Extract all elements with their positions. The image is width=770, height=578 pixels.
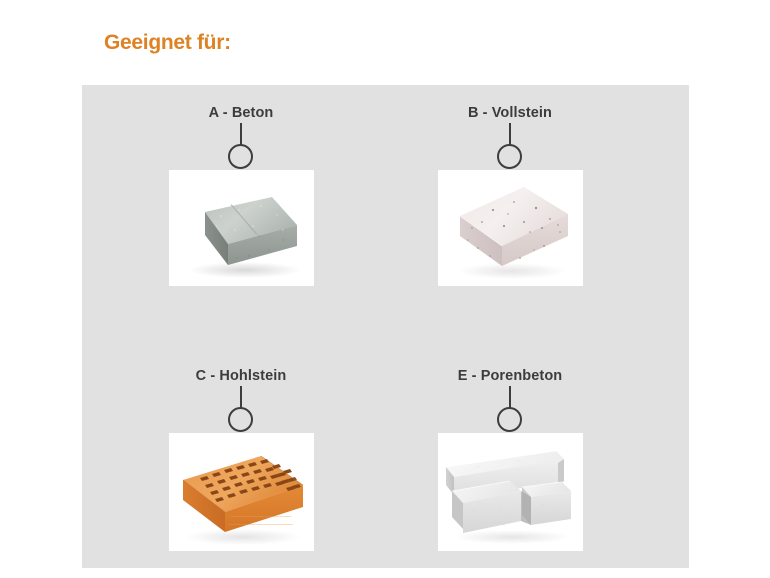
pin-stem bbox=[240, 123, 242, 145]
pin-ring bbox=[228, 144, 253, 169]
hohlstein-block-photo bbox=[169, 433, 314, 551]
material-item-vollstein[interactable]: B - Vollstein bbox=[365, 103, 655, 286]
pin-stem bbox=[240, 386, 242, 408]
pin-stem bbox=[509, 386, 511, 408]
marker-wrap-beton bbox=[96, 123, 386, 170]
pin-ring bbox=[228, 407, 253, 432]
page-title: Geeignet für: bbox=[104, 31, 231, 55]
material-photo-card-porenbeton[interactable] bbox=[438, 433, 583, 551]
material-photo-card-beton[interactable] bbox=[169, 170, 314, 286]
material-item-beton[interactable]: A - Beton bbox=[96, 103, 386, 286]
material-item-hohlstein[interactable]: C - Hohlstein bbox=[96, 366, 386, 551]
marker-wrap-hohlstein bbox=[96, 386, 386, 433]
beton-block-photo bbox=[169, 170, 314, 286]
material-label-hohlstein: C - Hohlstein bbox=[96, 366, 386, 386]
material-label-porenbeton: E - Porenbeton bbox=[365, 366, 655, 386]
pin-ring-icon bbox=[228, 386, 254, 432]
material-item-porenbeton[interactable]: E - Porenbeton bbox=[365, 366, 655, 551]
pin-ring-icon bbox=[497, 386, 523, 432]
material-label-vollstein: B - Vollstein bbox=[365, 103, 655, 123]
marker-wrap-vollstein bbox=[365, 123, 655, 170]
pin-stem bbox=[509, 123, 511, 145]
material-label-beton: A - Beton bbox=[96, 103, 386, 123]
pin-ring bbox=[497, 407, 522, 432]
material-photo-card-vollstein[interactable] bbox=[438, 170, 583, 286]
porenbeton-block-photo bbox=[438, 433, 583, 551]
pin-ring-icon bbox=[228, 123, 254, 169]
vollstein-block-photo bbox=[438, 170, 583, 286]
suitable-materials-panel: A - Beton bbox=[82, 85, 689, 568]
material-photo-card-hohlstein[interactable] bbox=[169, 433, 314, 551]
pin-ring-icon bbox=[497, 123, 523, 169]
pin-ring bbox=[497, 144, 522, 169]
marker-wrap-porenbeton bbox=[365, 386, 655, 433]
